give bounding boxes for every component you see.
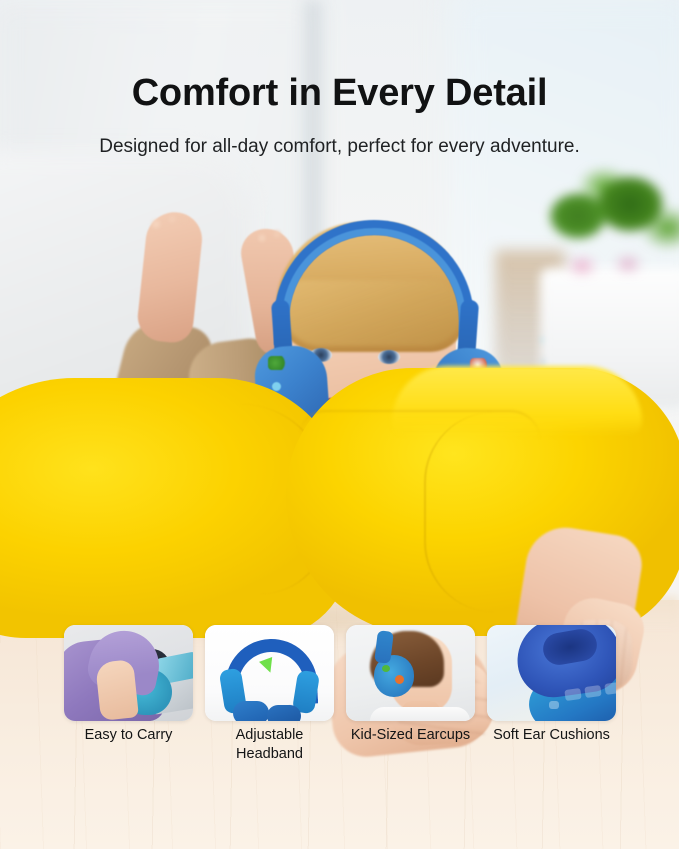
profile-shirt	[370, 707, 470, 721]
feature-caption-adjustable-headband: Adjustable Headband	[205, 726, 334, 786]
feature-thumbnail-soft-ear-cushions[interactable]	[487, 625, 616, 721]
hero-child-arms	[0, 150, 679, 620]
child-hand	[95, 659, 139, 721]
orange-button-icon	[395, 675, 404, 684]
feature-thumbnail-kid-sized-earcups[interactable]	[346, 625, 475, 721]
feature-caption-soft-ear-cushions: Soft Ear Cushions	[487, 726, 616, 786]
page-subtitle: Designed for all-day comfort, perfect fo…	[0, 136, 679, 158]
headband-adjust-image	[205, 625, 334, 721]
page-title: Comfort in Every Detail	[0, 72, 679, 115]
control-button-1-icon	[564, 688, 581, 701]
feature-thumbnail-adjustable-headband[interactable]	[205, 625, 334, 721]
earcup-b	[267, 705, 301, 721]
feature-thumbnail-easy-to-carry[interactable]	[64, 625, 193, 721]
earcup-a	[233, 701, 269, 721]
feature-caption-kid-sized-earcups: Kid-Sized Earcups	[346, 726, 475, 786]
kid-profile-image	[346, 625, 475, 721]
backpack-carry-image	[64, 625, 193, 721]
feature-caption-row: Easy to Carry Adjustable Headband Kid-Si…	[64, 726, 616, 786]
feature-caption-easy-to-carry: Easy to Carry	[64, 726, 193, 786]
feature-thumbnail-strip	[64, 625, 616, 725]
green-decal-icon	[382, 665, 390, 672]
audio-port-icon	[549, 701, 559, 709]
product-feature-banner: Comfort in Every Detail Designed for all…	[0, 0, 679, 849]
control-button-3-icon	[604, 682, 616, 695]
control-button-2-icon	[584, 685, 601, 698]
ear-cushion-image	[487, 625, 616, 721]
